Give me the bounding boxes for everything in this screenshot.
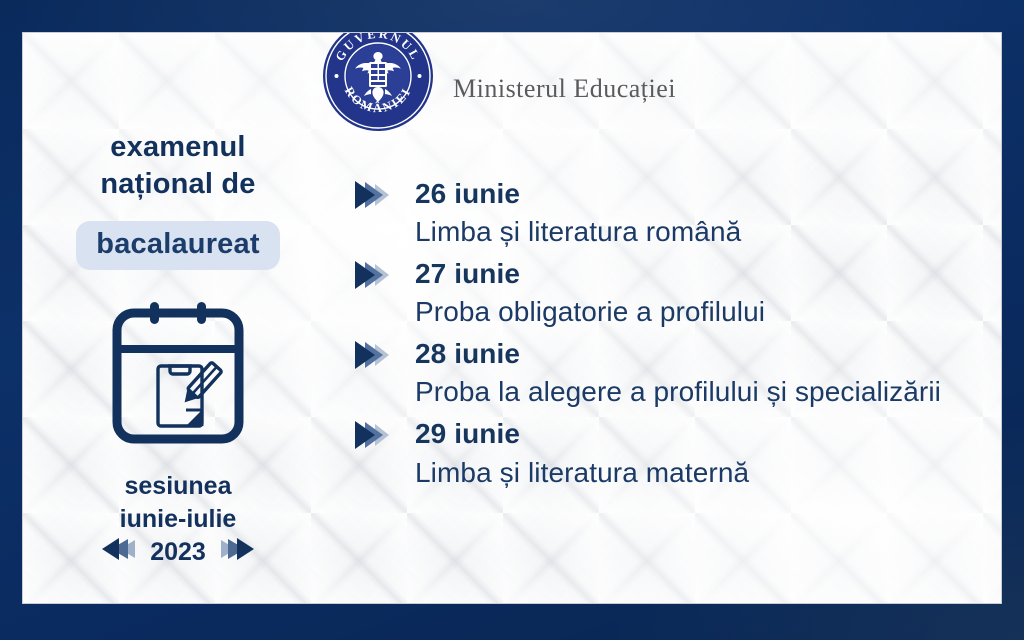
- year-row: 2023: [23, 536, 333, 569]
- schedule-list: 26 iunie Limba și literatura română 27 i…: [353, 175, 983, 496]
- double-triangle-right-icon: [353, 421, 395, 449]
- ministry-title: Ministerul Educației: [453, 74, 676, 104]
- left-column: examenul național de bacalaureat: [23, 129, 333, 569]
- government-seal-icon: GUVERNUL ROMÂNIEI: [321, 32, 435, 133]
- schedule-date: 26 iunie: [415, 175, 983, 213]
- double-triangle-right-icon: [353, 261, 395, 289]
- session-line1: sesiunea: [23, 470, 333, 503]
- schedule-description: Proba obligatorie a profilului: [415, 293, 983, 331]
- white-panel: GUVERNUL ROMÂNIEI: [22, 32, 1002, 604]
- poster-root: GUVERNUL ROMÂNIEI: [0, 0, 1024, 640]
- exam-title-line2: național de: [23, 166, 333, 203]
- double-triangle-right-icon: [353, 181, 395, 209]
- schedule-description: Limba și literatura maternă: [415, 454, 983, 492]
- schedule-description: Proba la alegere a profilului și special…: [415, 373, 983, 411]
- schedule-item: 26 iunie Limba și literatura română: [353, 175, 983, 251]
- schedule-date: 27 iunie: [415, 255, 983, 293]
- exam-type-badge: bacalaureat: [76, 221, 279, 270]
- session-line2: iunie-iulie: [23, 503, 333, 536]
- badge-wrapper: bacalaureat: [23, 221, 333, 270]
- schedule-date: 28 iunie: [415, 335, 983, 373]
- schedule-date: 29 iunie: [415, 415, 983, 453]
- calendar-exam-icon: [23, 300, 333, 448]
- schedule-item: 27 iunie Proba obligatorie a profilului: [353, 255, 983, 331]
- schedule-item: 28 iunie Proba la alegere a profilului ș…: [353, 335, 983, 411]
- schedule-description: Limba și literatura română: [415, 213, 983, 251]
- session-block: sesiunea iunie-iulie 2023: [23, 470, 333, 569]
- double-triangle-right-icon: [220, 536, 254, 569]
- double-triangle-left-icon: [102, 536, 136, 569]
- exam-title-line1: examenul: [23, 129, 333, 166]
- double-triangle-right-icon: [353, 341, 395, 369]
- session-year: 2023: [150, 536, 206, 569]
- schedule-item: 29 iunie Limba și literatura maternă: [353, 415, 983, 491]
- exam-title: examenul național de: [23, 129, 333, 203]
